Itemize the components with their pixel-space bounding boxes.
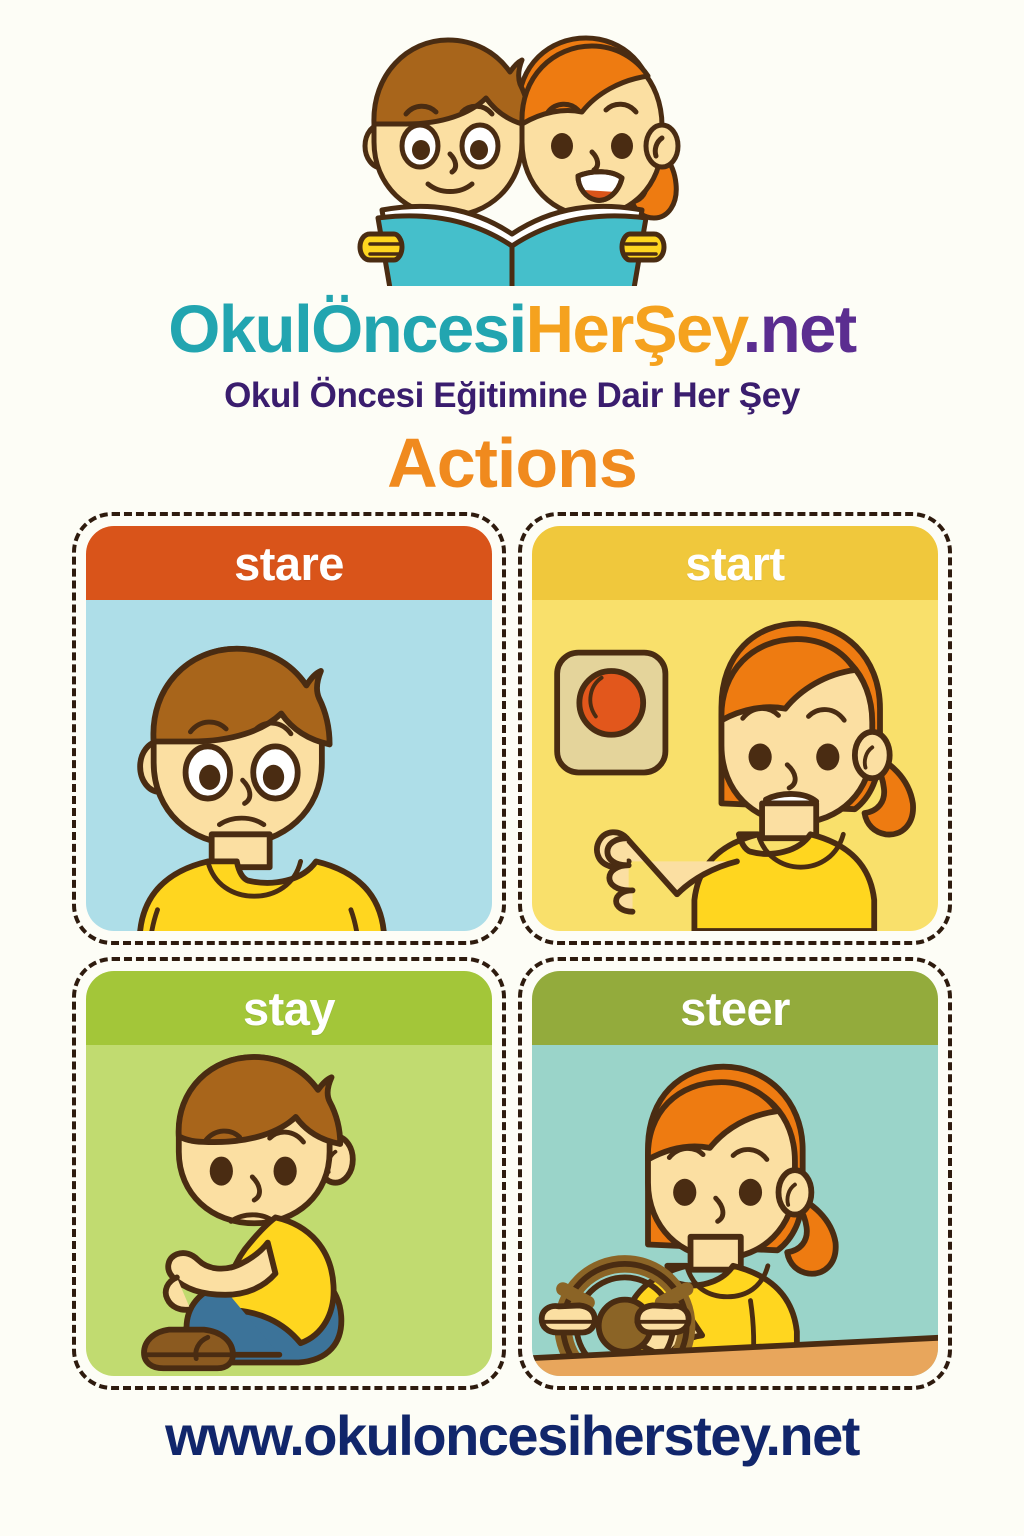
vocabulary-card-steer[interactable]: steer — [532, 971, 938, 1376]
brand-part-1: OkulÖncesi — [168, 292, 525, 367]
card-label-steer: steer — [532, 971, 938, 1045]
card-slot-stay: stay — [72, 957, 506, 1390]
card-label-start: start — [532, 526, 938, 600]
card-illustration-stare — [86, 600, 492, 931]
footer-website-url[interactable]: www.okuloncesiherstey.net — [0, 1408, 1024, 1464]
brand-part-2: HerŞey — [526, 292, 743, 367]
vocabulary-card-stare[interactable]: stare — [86, 526, 492, 931]
brand-subtitle: Okul Öncesi Eğitimine Dair Her Şey — [0, 378, 1024, 413]
vocabulary-card-start[interactable]: start — [532, 526, 938, 931]
card-slot-stare: stare — [72, 512, 506, 945]
card-illustration-stay — [86, 1045, 492, 1376]
card-slot-start: start — [518, 512, 952, 945]
card-label-stare: stare — [86, 526, 492, 600]
vocabulary-card-stay[interactable]: stay — [86, 971, 492, 1376]
brand-part-3: .net — [743, 292, 856, 367]
card-slot-steer: steer — [518, 957, 952, 1390]
vocabulary-card-grid: stare — [72, 512, 952, 1390]
card-illustration-start — [532, 600, 938, 931]
logo-illustration — [322, 18, 702, 286]
page-title: Actions — [0, 428, 1024, 498]
card-illustration-steer — [532, 1045, 938, 1376]
brand-wordmark: OkulÖncesiHerŞey.net — [0, 296, 1024, 363]
card-label-stay: stay — [86, 971, 492, 1045]
poster-root: OkulÖncesiHerŞey.net Okul Öncesi Eğitimi… — [0, 0, 1024, 1536]
